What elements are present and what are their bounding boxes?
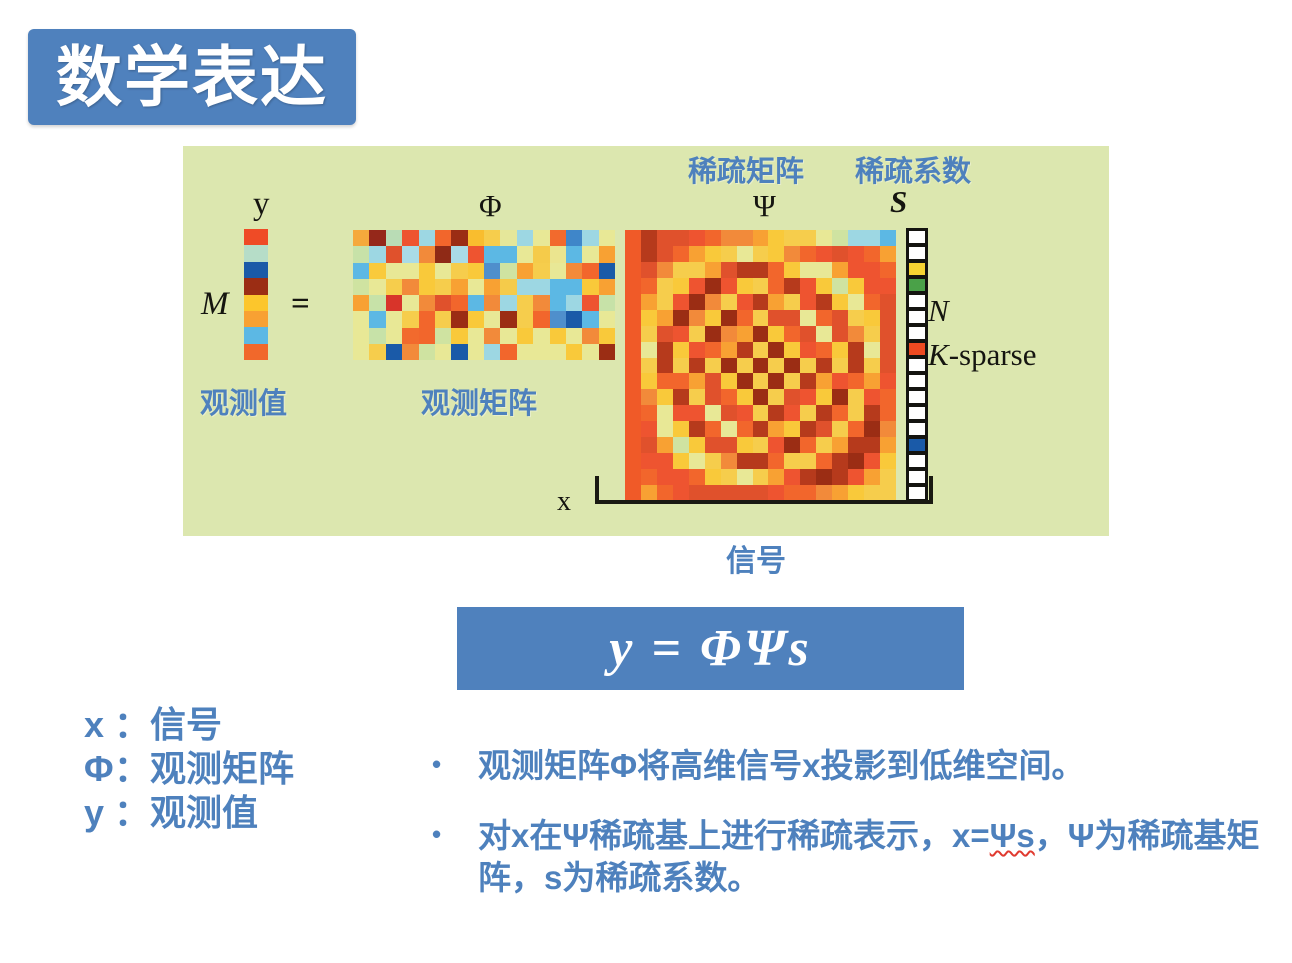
heatmap-cell (435, 311, 451, 327)
heatmap-cell (737, 405, 753, 421)
heatmap-cell (689, 437, 705, 453)
heatmap-cell (908, 390, 926, 404)
heatmap-cell (864, 294, 880, 310)
heatmap-cell (657, 262, 673, 278)
heatmap-cell (435, 246, 451, 262)
heatmap-cell (784, 230, 800, 246)
heatmap-cell (880, 389, 896, 405)
heatmap-cell (353, 344, 369, 360)
heatmap-cell (880, 246, 896, 262)
heatmap-cell (673, 389, 689, 405)
heatmap-cell (435, 295, 451, 311)
heatmap-cell (800, 405, 816, 421)
heatmap-cell (625, 262, 641, 278)
heatmap-cell (753, 405, 769, 421)
heatmap-cell (599, 295, 615, 311)
heatmap-cell (657, 358, 673, 374)
heatmap-cell (816, 389, 832, 405)
heatmap-cell (689, 278, 705, 294)
heatmap-cell (816, 437, 832, 453)
heatmap-cell (244, 262, 268, 278)
heatmap-cell (657, 421, 673, 437)
heatmap-cell (550, 279, 566, 295)
heatmap-cell (244, 229, 268, 245)
bullet-text-part: 对x在Ψ稀疏基上进行稀疏表示，x= (478, 817, 990, 854)
heatmap-cell (721, 421, 737, 437)
heatmap-cell (689, 262, 705, 278)
heatmap-cell (848, 421, 864, 437)
heatmap-cell (657, 405, 673, 421)
heatmap-cell (721, 246, 737, 262)
heatmap-cell (737, 373, 753, 389)
heatmap-cell (864, 453, 880, 469)
heatmap-cell (641, 358, 657, 374)
heatmap-cell (784, 278, 800, 294)
heatmap-cell (800, 373, 816, 389)
heatmap-cell (705, 310, 721, 326)
legend-meaning: ：信号 (114, 704, 222, 745)
heatmap-cell (419, 263, 435, 279)
heatmap-cell (705, 373, 721, 389)
heatmap-cell (419, 230, 435, 246)
heatmap-cell (784, 421, 800, 437)
heatmap-cell (484, 328, 500, 344)
heatmap-cell (641, 437, 657, 453)
heatmap-cell (625, 246, 641, 262)
heatmap-cell (721, 389, 737, 405)
heatmap-cell (705, 294, 721, 310)
heatmap-cell (468, 311, 484, 327)
heatmap-cell (880, 310, 896, 326)
heatmap-cell (880, 262, 896, 278)
heatmap-cell (386, 279, 402, 295)
heatmap-cell (625, 294, 641, 310)
heatmap-cell (832, 453, 848, 469)
heatmap-cell (533, 311, 549, 327)
heatmap-cell (369, 263, 385, 279)
heatmap-cell (832, 262, 848, 278)
heatmap-cell (800, 389, 816, 405)
heatmap-cell (721, 453, 737, 469)
heatmap-cell (832, 405, 848, 421)
heatmap-cell (657, 278, 673, 294)
heatmap-cell (784, 389, 800, 405)
heatmap-cell (832, 278, 848, 294)
heatmap-cell (402, 279, 418, 295)
heatmap-cell (517, 295, 533, 311)
heatmap-cell (386, 311, 402, 327)
heatmap-cell (451, 311, 467, 327)
heatmap-cell (800, 294, 816, 310)
heatmap-cell (753, 373, 769, 389)
heatmap-cell (500, 230, 516, 246)
bullet-marker-icon: • (432, 815, 478, 854)
heatmap-cell (908, 374, 926, 388)
heatmap-cell (768, 294, 784, 310)
heatmap-cell (737, 453, 753, 469)
heatmap-cell (244, 311, 268, 327)
heatmap-cell (721, 230, 737, 246)
heatmap-cell (673, 358, 689, 374)
heatmap-cell (753, 437, 769, 453)
measurement-matrix-phi (353, 230, 615, 360)
heatmap-cell (673, 453, 689, 469)
heatmap-cell (517, 279, 533, 295)
heatmap-cell (721, 294, 737, 310)
heatmap-cell (689, 453, 705, 469)
heatmap-cell (641, 453, 657, 469)
heatmap-cell (517, 311, 533, 327)
heatmap-cell (908, 438, 926, 452)
heatmap-cell (848, 389, 864, 405)
heatmap-cell (816, 358, 832, 374)
heatmap-cell (566, 279, 582, 295)
heatmap-cell (500, 279, 516, 295)
heatmap-cell (641, 294, 657, 310)
heatmap-cell (386, 295, 402, 311)
heatmap-cell (582, 328, 598, 344)
heatmap-cell (689, 358, 705, 374)
heatmap-cell (550, 230, 566, 246)
heatmap-cell (705, 405, 721, 421)
heatmap-cell (500, 344, 516, 360)
heatmap-cell (625, 310, 641, 326)
heatmap-cell (880, 437, 896, 453)
heatmap-cell (484, 230, 500, 246)
heatmap-cell (737, 437, 753, 453)
heatmap-cell (419, 344, 435, 360)
heatmap-cell (419, 295, 435, 311)
heatmap-cell (753, 389, 769, 405)
heatmap-cell (582, 246, 598, 262)
symbol-equals: = (291, 286, 310, 323)
heatmap-cell (880, 294, 896, 310)
heatmap-cell (768, 373, 784, 389)
heatmap-cell (784, 310, 800, 326)
heatmap-cell (402, 328, 418, 344)
heatmap-cell (721, 326, 737, 342)
heatmap-cell (689, 421, 705, 437)
heatmap-cell (908, 230, 926, 244)
heatmap-cell (721, 342, 737, 358)
heatmap-cell (353, 279, 369, 295)
legend-meaning: ：观测矩阵 (114, 748, 294, 789)
heatmap-cell (768, 230, 784, 246)
heatmap-cell (468, 246, 484, 262)
heatmap-cell (369, 295, 385, 311)
heatmap-cell (641, 230, 657, 246)
bullet-marker-icon: • (432, 745, 478, 784)
label-sparse-matrix: 稀疏矩阵 (688, 148, 804, 190)
heatmap-cell (737, 262, 753, 278)
heatmap-cell (673, 294, 689, 310)
page-title-box: 数学表达 (28, 29, 356, 125)
heatmap-cell (705, 230, 721, 246)
heatmap-cell (625, 278, 641, 294)
heatmap-cell (848, 310, 864, 326)
heatmap-cell (369, 328, 385, 344)
legend-symbol: Φ (84, 747, 114, 791)
heatmap-cell (705, 326, 721, 342)
heatmap-cell (566, 311, 582, 327)
heatmap-cell (705, 358, 721, 374)
heatmap-cell (435, 230, 451, 246)
symbol-psi: Ψ (753, 188, 776, 224)
heatmap-cell (468, 263, 484, 279)
heatmap-cell (625, 389, 641, 405)
heatmap-cell (500, 328, 516, 344)
heatmap-cell (705, 262, 721, 278)
heatmap-cell (832, 310, 848, 326)
heatmap-cell (566, 295, 582, 311)
heatmap-cell (721, 358, 737, 374)
heatmap-cell (625, 230, 641, 246)
legend-row-y: y：观测值 (84, 791, 294, 835)
heatmap-cell (550, 263, 566, 279)
heatmap-cell (784, 453, 800, 469)
heatmap-cell (737, 389, 753, 405)
label-sparse-coefficient: 稀疏系数 (855, 148, 971, 190)
heatmap-cell (533, 279, 549, 295)
heatmap-cell (753, 262, 769, 278)
heatmap-cell (386, 328, 402, 344)
heatmap-cell (625, 421, 641, 437)
heatmap-cell (784, 405, 800, 421)
heatmap-cell (880, 358, 896, 374)
heatmap-cell (721, 373, 737, 389)
heatmap-cell (800, 326, 816, 342)
heatmap-cell (500, 295, 516, 311)
heatmap-cell (533, 344, 549, 360)
heatmap-cell (880, 342, 896, 358)
heatmap-cell (244, 344, 268, 360)
heatmap-cell (657, 246, 673, 262)
heatmap-cell (468, 295, 484, 311)
heatmap-cell (908, 454, 926, 468)
heatmap-cell (800, 310, 816, 326)
heatmap-cell (816, 230, 832, 246)
heatmap-cell (800, 453, 816, 469)
heatmap-cell (386, 230, 402, 246)
heatmap-cell (550, 328, 566, 344)
heatmap-cell (864, 358, 880, 374)
heatmap-cell (908, 278, 926, 292)
heatmap-cell (721, 405, 737, 421)
heatmap-cell (800, 421, 816, 437)
heatmap-cell (908, 342, 926, 356)
label-k-sparse: K-sparse (928, 337, 1036, 373)
heatmap-cell (451, 246, 467, 262)
heatmap-cell (784, 373, 800, 389)
label-observed-value: 观测值 (200, 380, 287, 422)
heatmap-cell (721, 262, 737, 278)
heatmap-cell (689, 405, 705, 421)
heatmap-cell (386, 344, 402, 360)
heatmap-cell (768, 262, 784, 278)
heatmap-cell (908, 262, 926, 276)
heatmap-cell (816, 421, 832, 437)
heatmap-cell (657, 310, 673, 326)
heatmap-cell (768, 310, 784, 326)
heatmap-cell (582, 263, 598, 279)
symbol-n: N (928, 293, 949, 329)
heatmap-cell (768, 405, 784, 421)
heatmap-cell (768, 389, 784, 405)
heatmap-cell (800, 437, 816, 453)
heatmap-cell (468, 279, 484, 295)
heatmap-cell (737, 246, 753, 262)
heatmap-cell (244, 278, 268, 294)
heatmap-cell (721, 437, 737, 453)
heatmap-cell (599, 328, 615, 344)
heatmap-cell (705, 453, 721, 469)
heatmap-cell (599, 344, 615, 360)
legend-row-Φ: Φ：观测矩阵 (84, 747, 294, 791)
heatmap-cell (657, 437, 673, 453)
heatmap-cell (582, 230, 598, 246)
heatmap-cell (657, 453, 673, 469)
heatmap-cell (402, 344, 418, 360)
spellcheck-underlined-text: Ψs (990, 817, 1035, 854)
heatmap-cell (864, 262, 880, 278)
heatmap-cell (689, 310, 705, 326)
heatmap-cell (657, 389, 673, 405)
heatmap-cell (689, 326, 705, 342)
heatmap-cell (353, 311, 369, 327)
heatmap-cell (864, 246, 880, 262)
heatmap-cell (800, 246, 816, 262)
heatmap-cell (673, 246, 689, 262)
heatmap-cell (816, 453, 832, 469)
heatmap-cell (599, 263, 615, 279)
heatmap-cell (768, 453, 784, 469)
heatmap-cell (880, 421, 896, 437)
heatmap-cell (832, 389, 848, 405)
heatmap-cell (737, 342, 753, 358)
heatmap-cell (864, 437, 880, 453)
heatmap-cell (625, 358, 641, 374)
heatmap-cell (816, 310, 832, 326)
heatmap-cell (419, 328, 435, 344)
heatmap-cell (484, 246, 500, 262)
heatmap-cell (705, 437, 721, 453)
heatmap-cell (768, 278, 784, 294)
heatmap-cell (641, 262, 657, 278)
heatmap-cell (244, 295, 268, 311)
heatmap-cell (517, 263, 533, 279)
sparse-coefficient-vector-s (906, 228, 928, 502)
heatmap-cell (864, 230, 880, 246)
heatmap-cell (244, 327, 268, 343)
heatmap-cell (657, 294, 673, 310)
heatmap-cell (451, 230, 467, 246)
signal-x-bracket (595, 476, 933, 504)
heatmap-cell (599, 246, 615, 262)
heatmap-cell (402, 295, 418, 311)
heatmap-cell (353, 246, 369, 262)
heatmap-cell (864, 310, 880, 326)
heatmap-cell (753, 421, 769, 437)
heatmap-cell (753, 230, 769, 246)
heatmap-cell (451, 263, 467, 279)
heatmap-cell (737, 294, 753, 310)
heatmap-cell (402, 311, 418, 327)
heatmap-cell (848, 262, 864, 278)
heatmap-cell (784, 262, 800, 278)
heatmap-cell (908, 246, 926, 260)
heatmap-cell (369, 311, 385, 327)
heatmap-cell (689, 373, 705, 389)
heatmap-cell (753, 326, 769, 342)
heatmap-cell (533, 246, 549, 262)
heatmap-cell (784, 437, 800, 453)
heatmap-cell (435, 328, 451, 344)
heatmap-cell (625, 373, 641, 389)
label-observation-matrix: 观测矩阵 (421, 380, 537, 422)
heatmap-cell (908, 358, 926, 372)
heatmap-cell (484, 344, 500, 360)
heatmap-cell (816, 326, 832, 342)
heatmap-cell (550, 295, 566, 311)
heatmap-cell (517, 246, 533, 262)
heatmap-cell (641, 421, 657, 437)
heatmap-cell (784, 294, 800, 310)
heatmap-cell (599, 311, 615, 327)
heatmap-cell (753, 310, 769, 326)
legend-symbol: x (84, 703, 114, 747)
heatmap-cell (550, 344, 566, 360)
heatmap-cell (625, 437, 641, 453)
heatmap-cell (484, 295, 500, 311)
heatmap-cell (880, 230, 896, 246)
heatmap-cell (500, 311, 516, 327)
heatmap-cell (768, 246, 784, 262)
heatmap-cell (768, 342, 784, 358)
heatmap-cell (468, 230, 484, 246)
heatmap-cell (500, 246, 516, 262)
heatmap-cell (673, 421, 689, 437)
heatmap-cell (673, 326, 689, 342)
heatmap-cell (435, 263, 451, 279)
heatmap-cell (599, 230, 615, 246)
heatmap-cell (369, 246, 385, 262)
heatmap-cell (353, 263, 369, 279)
heatmap-cell (468, 344, 484, 360)
heatmap-cell (484, 279, 500, 295)
legend-row-x: x：信号 (84, 703, 294, 747)
heatmap-cell (832, 373, 848, 389)
heatmap-cell (737, 310, 753, 326)
heatmap-cell (848, 278, 864, 294)
heatmap-cell (908, 406, 926, 420)
heatmap-cell (369, 230, 385, 246)
heatmap-cell (566, 230, 582, 246)
heatmap-cell (800, 358, 816, 374)
heatmap-cell (800, 278, 816, 294)
heatmap-cell (784, 326, 800, 342)
heatmap-cell (705, 246, 721, 262)
heatmap-cell (753, 278, 769, 294)
heatmap-cell (864, 389, 880, 405)
heatmap-cell (673, 437, 689, 453)
heatmap-cell (753, 342, 769, 358)
heatmap-cell (737, 230, 753, 246)
symbol-k: K (928, 337, 949, 372)
heatmap-cell (832, 342, 848, 358)
heatmap-cell (673, 373, 689, 389)
k-sparse-suffix: -sparse (949, 337, 1037, 372)
heatmap-cell (816, 405, 832, 421)
